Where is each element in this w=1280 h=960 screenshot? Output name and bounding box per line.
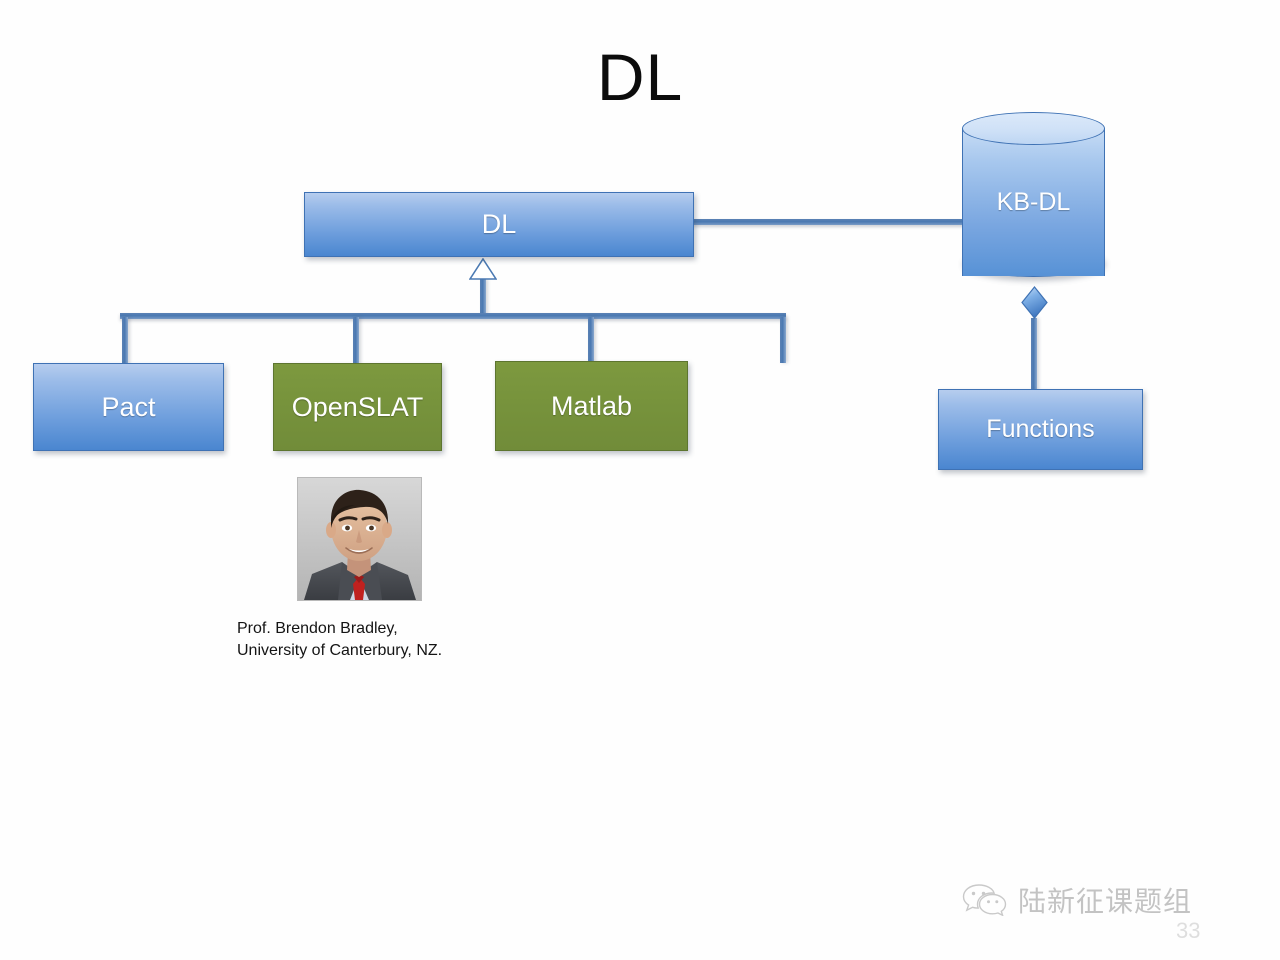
connector-bus-to-matlab (588, 317, 594, 363)
uml-generalization-triangle-icon (469, 258, 497, 280)
node-openslat-label: OpenSLAT (292, 392, 424, 423)
connector-bus-to-openslat (353, 317, 359, 365)
node-pact-label: Pact (101, 392, 155, 423)
slide-canvas: DL DL Pact OpenS (0, 0, 1280, 960)
node-matlab[interactable]: Matlab (495, 361, 688, 451)
node-kbdl-cylinder[interactable]: KB-DL (962, 112, 1105, 292)
node-pact[interactable]: Pact (33, 363, 224, 451)
node-functions[interactable]: Functions (938, 389, 1143, 470)
node-dl[interactable]: DL (304, 192, 694, 257)
page-title: DL (0, 40, 1280, 114)
watermark-text: 陆新征课题组 (1018, 887, 1192, 917)
photo-caption: Prof. Brendon Bradley, University of Can… (237, 618, 597, 662)
page-number: 33 (1176, 918, 1200, 944)
node-functions-label: Functions (986, 415, 1094, 444)
connector-generalization-bus (120, 313, 786, 319)
wechat-icon (962, 882, 1008, 921)
connector-bus-to-empty-slot (780, 317, 786, 363)
node-matlab-label: Matlab (551, 391, 632, 422)
node-kbdl-label: KB-DL (962, 112, 1105, 292)
connector-bus-to-pact (122, 317, 128, 365)
connector-dl-to-kbdl (692, 219, 968, 225)
uml-aggregation-diamond-icon (1021, 286, 1048, 319)
connector-dl-generalization-stem (480, 279, 486, 317)
watermark: 陆新征课题组 (962, 882, 1192, 921)
portrait-photo (297, 477, 422, 601)
connector-kbdl-to-functions (1031, 318, 1037, 391)
node-openslat[interactable]: OpenSLAT (273, 363, 442, 451)
node-dl-label: DL (482, 209, 517, 240)
